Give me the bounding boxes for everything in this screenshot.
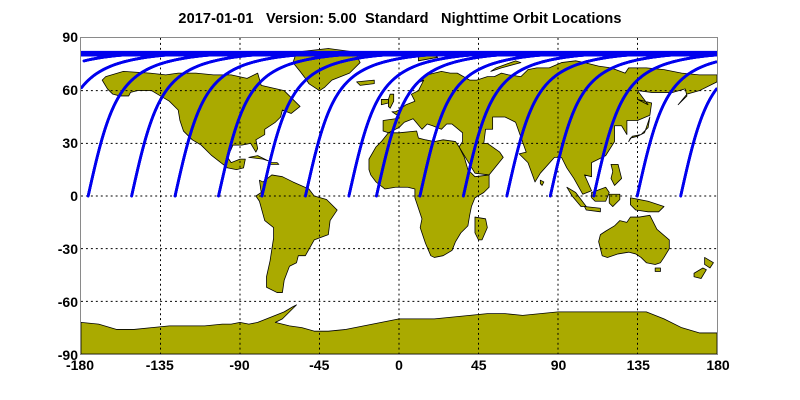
y-tick-label: 60 xyxy=(18,83,78,97)
map-plot-area[interactable] xyxy=(80,37,718,355)
y-tick-label: 90 xyxy=(18,30,78,44)
y-tick-label: 0 xyxy=(18,189,78,203)
x-tick-label: 180 xyxy=(678,358,758,372)
x-tick-label: -90 xyxy=(200,358,280,372)
figure-title: 2017-01-01 Version: 5.00 Standard Nightt… xyxy=(0,11,800,27)
y-tick-label: 30 xyxy=(18,136,78,150)
world-map-svg xyxy=(81,38,717,354)
x-tick-label: -135 xyxy=(120,358,200,372)
x-tick-label: -180 xyxy=(40,358,120,372)
x-tick-label: 0 xyxy=(359,358,439,372)
x-tick-label: 90 xyxy=(519,358,599,372)
orbit-map-figure: 2017-01-01 Version: 5.00 Standard Nightt… xyxy=(0,0,800,400)
x-tick-label: 135 xyxy=(598,358,678,372)
y-tick-label: -30 xyxy=(18,242,78,256)
x-tick-label: 45 xyxy=(439,358,519,372)
y-tick-label: -60 xyxy=(18,295,78,309)
x-tick-label: -45 xyxy=(279,358,359,372)
